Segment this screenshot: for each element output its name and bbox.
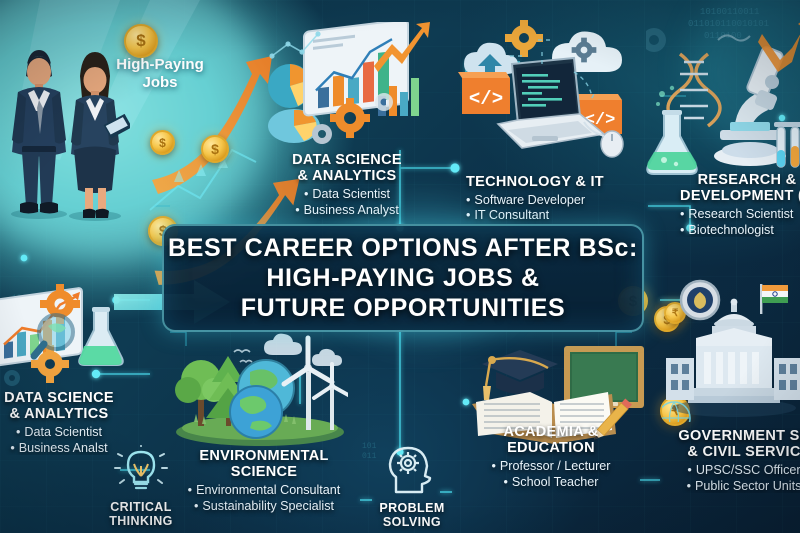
category-government-civil-services: GOVERNMENT SE & CIVIL SERVIC UPSC/SSC Of… [664, 428, 800, 493]
technology-it-illustration: </> </> [452, 20, 632, 158]
list-item: IT Consultant [466, 208, 632, 222]
coin-symbol: $ [211, 141, 219, 157]
list-item: UPSC/SSC Officer [664, 463, 800, 477]
skill-label-line1: PROBLEM [366, 502, 458, 516]
category-title-line1: RESEARCH & [672, 172, 800, 188]
page-title-line1: BEST CAREER OPTIONS AFTER BSc: [168, 234, 638, 263]
globe-icon [230, 386, 282, 438]
category-title: DATA SCIENCE & ANALYTICS [274, 152, 420, 184]
flask-icon [647, 110, 697, 174]
lightbulb-icon [114, 444, 168, 494]
high-paying-jobs-line2: Jobs [114, 74, 206, 92]
coin-icon: $ [124, 24, 158, 58]
list-item: Data Scientist [0, 425, 134, 439]
category-title-line1: GOVERNMENT SE [664, 428, 800, 444]
category-item-list: Research Scientist Biotechnologist [672, 207, 800, 236]
category-title-line2: DEVELOPMENT (R [672, 188, 800, 204]
cloud-icon [464, 43, 518, 74]
list-item: Software Developer [466, 193, 632, 207]
head-gear-icon [384, 444, 440, 496]
category-item-list: Data Scientist Business Analyst [274, 187, 420, 216]
category-title-line1: ACADEMIA & [458, 424, 644, 440]
list-item: Business Analyst [274, 203, 420, 217]
list-item: Environmental Consultant [174, 483, 354, 497]
gear-icon [646, 28, 666, 52]
coin-symbol: $ [136, 31, 145, 51]
coin-icon: $ [150, 130, 175, 155]
category-title: TECHNOLOGY & IT [466, 174, 632, 190]
data-science-illustration [258, 22, 434, 154]
high-paying-jobs-line1: High-Paying [114, 56, 206, 74]
title-banner: BEST CAREER OPTIONS AFTER BSc: HIGH-PAYI… [162, 224, 644, 332]
category-title: ACADEMIA & EDUCATION [458, 424, 644, 456]
category-title: ENVIRONMENTAL SCIENCE [174, 448, 354, 480]
category-title-line2: EDUCATION [458, 440, 644, 456]
list-item: Biotechnologist [680, 223, 800, 237]
category-data-science-top: DATA SCIENCE & ANALYTICS Data Scientist … [274, 152, 420, 217]
list-item: School Teacher [458, 475, 644, 489]
page-title-line3: FUTURE OPPORTUNITIES [241, 294, 566, 323]
category-item-list: Professor / Lecturer School Teacher [458, 459, 644, 488]
category-title-line1: ENVIRONMENTAL [174, 448, 354, 464]
category-item-list: Environmental Consultant Sustainability … [174, 483, 354, 512]
list-item: Research Scientist [680, 207, 800, 221]
gear-icon [505, 20, 543, 57]
skill-label-line2: THINKING [98, 515, 184, 529]
government-building-icon [666, 299, 800, 417]
category-item-list: UPSC/SSC Officer Public Sector Units [664, 463, 800, 492]
career-infographic-poster: 10100110011 011010110010101 0110100 1011… [0, 0, 800, 533]
skill-critical-thinking: CRITICAL THINKING [98, 444, 184, 529]
category-title-line1: DATA SCIENCE [0, 390, 134, 406]
category-title: GOVERNMENT SE & CIVIL SERVIC [664, 428, 800, 460]
category-environmental-science: ENVIRONMENTAL SCIENCE Environmental Cons… [174, 448, 354, 513]
category-title-line2: SCIENCE [174, 464, 354, 480]
skill-label-line1: CRITICAL [98, 501, 184, 515]
category-title-line2: & ANALYTICS [0, 406, 134, 422]
flag-icon [760, 284, 788, 314]
seal-icon [681, 281, 719, 319]
skill-label-line2: SOLVING [366, 516, 458, 530]
flask-icon [79, 307, 123, 365]
data-science-bottom-illustration [0, 282, 158, 394]
high-paying-jobs-label: High-Paying Jobs [114, 56, 206, 91]
category-academia-education: ACADEMIA & EDUCATION Professor / Lecture… [458, 424, 644, 489]
list-item: Sustainability Specialist [174, 499, 354, 513]
government-illustration [662, 276, 800, 422]
svg-text:</>: </> [469, 88, 503, 110]
skill-label: PROBLEM SOLVING [366, 502, 458, 530]
category-technology-it: TECHNOLOGY & IT Software Developer IT Co… [466, 174, 632, 222]
category-title-line1: DATA SCIENCE [274, 152, 420, 168]
research-development-illustration [646, 18, 800, 176]
environmental-science-illustration [172, 328, 348, 448]
coin-symbol: $ [159, 136, 166, 150]
list-item: Public Sector Units [664, 479, 800, 493]
category-title-line1: TECHNOLOGY & IT [466, 174, 632, 190]
category-item-list: Software Developer IT Consultant [466, 193, 632, 222]
skill-problem-solving: PROBLEM SOLVING [366, 444, 458, 530]
category-title-line2: & CIVIL SERVIC [664, 444, 800, 460]
page-title-line2: HIGH-PAYING JOBS & [266, 264, 539, 293]
list-item: Data Scientist [274, 187, 420, 201]
skill-label: CRITICAL THINKING [98, 501, 184, 529]
code-tag-icon: </> [458, 72, 510, 114]
category-title-line2: & ANALYTICS [274, 168, 420, 184]
category-title: RESEARCH & DEVELOPMENT (R [672, 172, 800, 204]
coin-icon: $ [201, 135, 229, 163]
test-tube-icon [774, 122, 800, 167]
category-title: DATA SCIENCE & ANALYTICS [0, 390, 134, 422]
list-item: Professor / Lecturer [458, 459, 644, 473]
category-research-development: RESEARCH & DEVELOPMENT (R Research Scien… [672, 172, 800, 237]
